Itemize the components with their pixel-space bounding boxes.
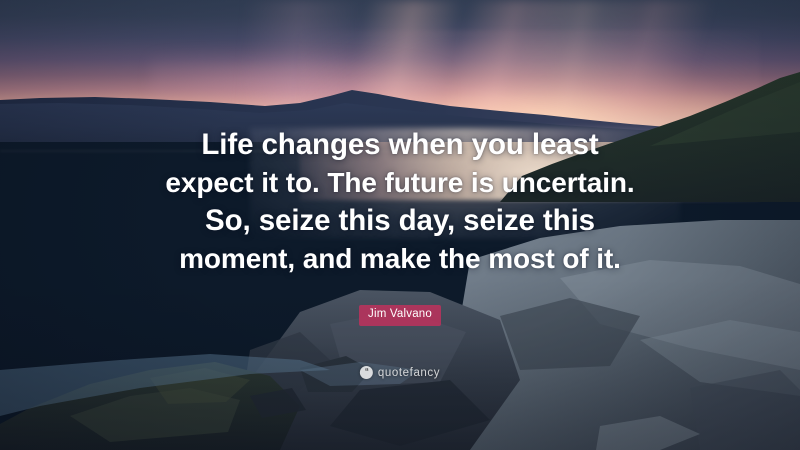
quote-text-block: Life changes when you least expect it to… [0, 126, 800, 278]
watermark: “ quotefancy [360, 366, 440, 379]
quote-line-4: moment, and make the most of it. [80, 240, 720, 278]
quote-line-3: So, seize this day, seize this [80, 202, 720, 240]
quote-line-2: expect it to. The future is uncertain. [80, 164, 720, 202]
watermark-brand: quotefancy [378, 367, 440, 379]
quote-line-1: Life changes when you least [80, 126, 720, 164]
quotefancy-logo-glyph: “ [365, 368, 368, 376]
quote-wallpaper-image: Life changes when you least expect it to… [0, 0, 800, 450]
quotefancy-logo-icon: “ [360, 366, 373, 379]
author-badge[interactable]: Jim Valvano [359, 305, 441, 326]
